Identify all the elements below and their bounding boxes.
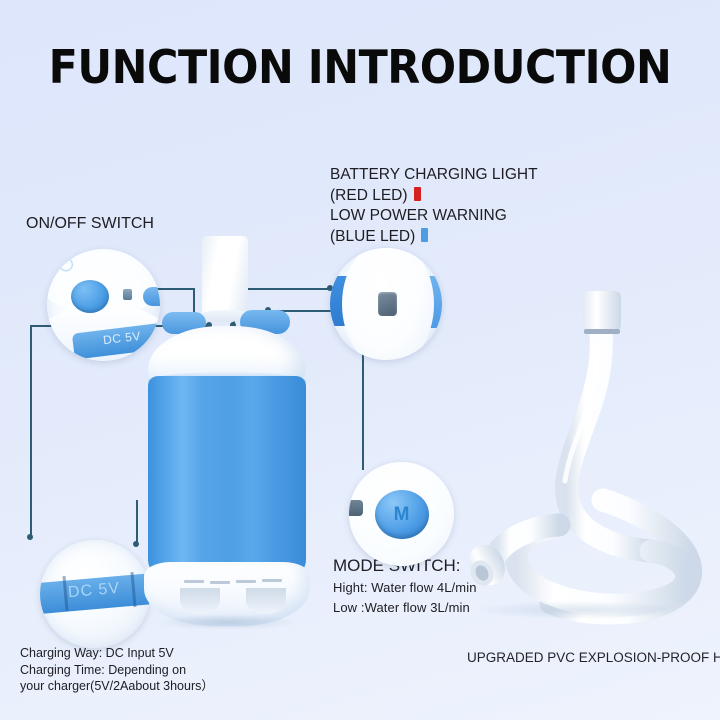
product-vent-slot [210,581,230,584]
callout-mode-switch[interactable]: M [349,462,454,566]
charging-way-text: Charging Way: DC Input 5V [20,645,214,662]
battery-light-legend: BATTERY CHARGING LIGHT (RED LED) LOW POW… [330,165,538,247]
red-led-swatch [414,187,421,201]
product-foot-notch [180,588,220,614]
product-vent-slot [236,580,256,583]
hose-drop-shadow [475,601,685,619]
charging-time-text: Charging Time: Depending on [20,662,214,679]
low-power-warning-line: LOW POWER WARNING [330,206,538,227]
hose-drawing [455,285,720,630]
charging-info-block: Charging Way: DC Input 5V Charging Time:… [20,645,214,695]
product-drop-shadow [156,614,298,630]
led-indicator-chip [378,292,397,316]
product-spout [202,236,248,318]
power-button[interactable] [71,280,109,313]
red-led-line: (RED LED) [330,186,538,207]
battery-charging-light-line: BATTERY CHARGING LIGHT [330,165,538,186]
callout-mode-side-chip [349,500,363,516]
infographic-canvas: FUNCTION INTRODUCTION ON/OFF SWITCH BATT… [0,0,720,720]
leader-dot-dc-tail [133,541,139,547]
battery-charging-light-text: BATTERY CHARGING LIGHT [330,166,538,183]
product-vent-slot [184,580,204,583]
product-vent-slot [262,579,282,582]
leader-dot-dc-end [27,534,33,540]
hose-caption: UPGRADED PVC EXPLOSION-PROOF HOSE [467,650,720,665]
mode-button-label: M [375,490,429,539]
blue-led-line: (BLUE LED) [330,227,538,248]
leader-line-dc-v [30,325,32,537]
callout-led-chip [123,289,132,300]
hose-top-cap [583,291,621,331]
product-pvc-hose [455,285,720,630]
power-icon: ⏻ [47,249,85,282]
mode-low-text: Low :Water flow 3L/min [333,600,470,615]
hose-cap-ring [584,329,620,334]
low-power-warning-text: LOW POWER WARNING [330,207,507,224]
charging-detail-text: your charger(5V/2Aabout 3hours） [20,678,214,695]
product-portable-shower-pump [140,236,350,616]
red-led-text: (RED LED) [330,187,408,204]
callout-dc-port[interactable]: DC 5V [40,540,150,648]
product-foot-notch [246,588,286,614]
on-off-switch-label: ON/OFF SWITCH [26,215,154,233]
page-title: FUNCTION INTRODUCTION [25,40,695,94]
blue-led-swatch [421,228,428,242]
product-blue-body [148,376,306,576]
leader-line-dc-tail [136,500,138,544]
